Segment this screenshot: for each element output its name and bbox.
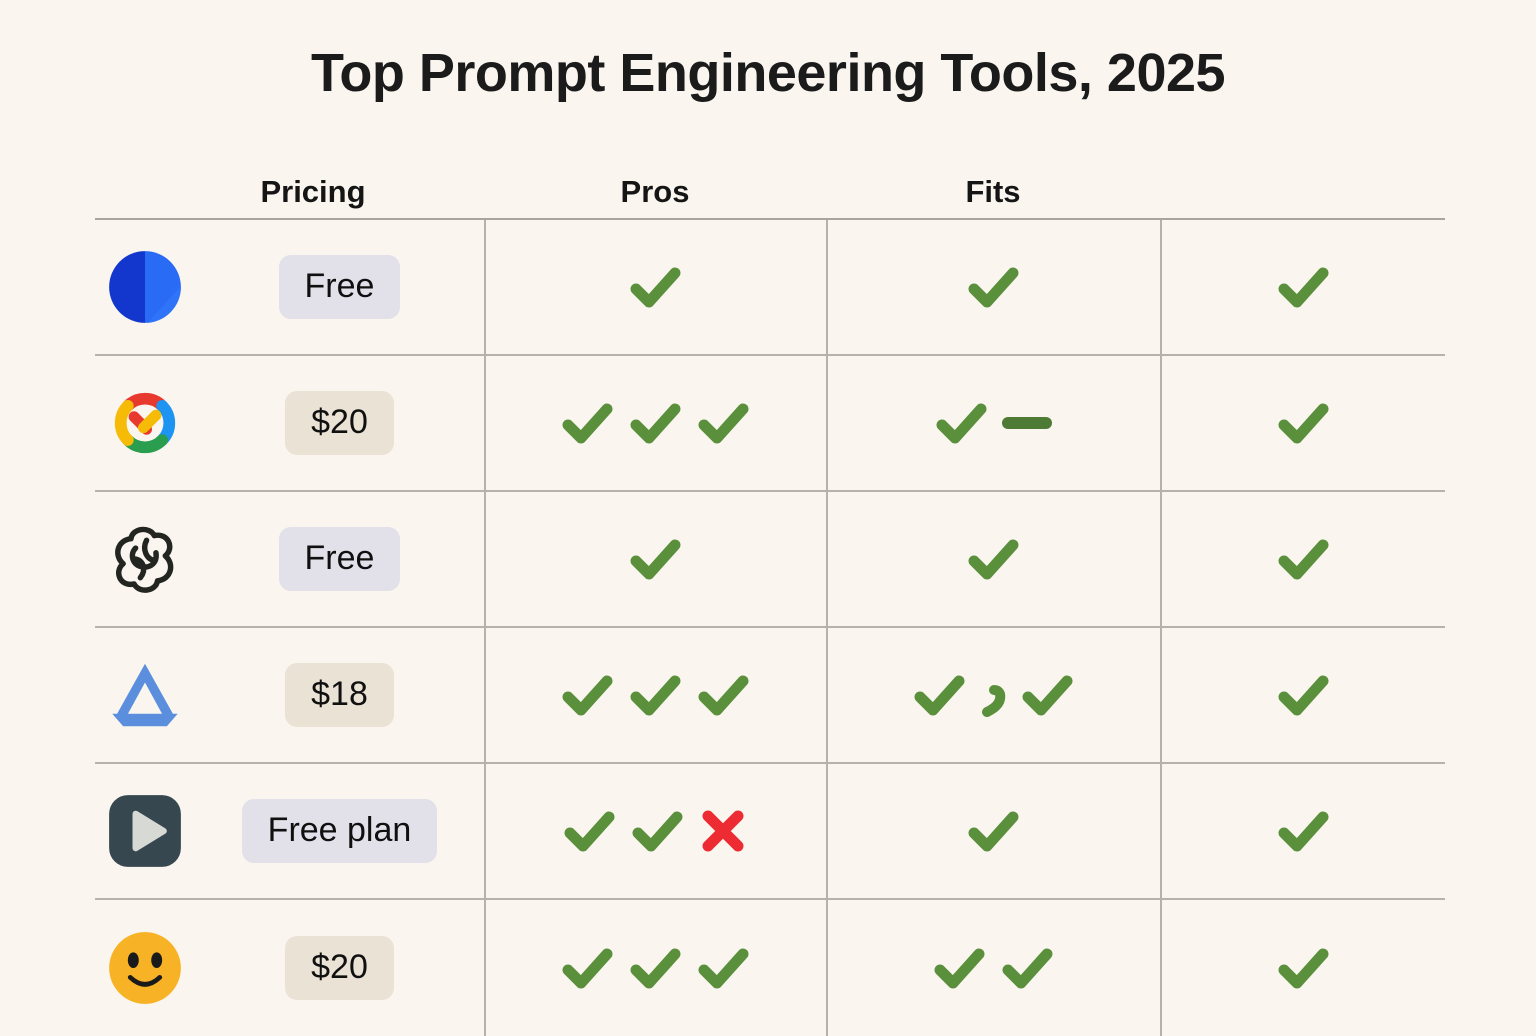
check-icon [1272, 937, 1334, 999]
check-icon [1272, 800, 1334, 862]
fits-cell [826, 764, 1160, 898]
pros-marks [556, 392, 754, 454]
table-row[interactable]: Free [95, 492, 1445, 628]
table-row[interactable]: Free [95, 220, 1445, 356]
extra-marks [1272, 664, 1334, 726]
page-title: Top Prompt Engineering Tools, 2025 [0, 42, 1536, 104]
brand-cell [95, 220, 195, 354]
check-icon [692, 664, 754, 726]
pricing-cell: Free plan [195, 764, 484, 898]
check-icon [1272, 528, 1334, 590]
yellow-smiley-face-logo-icon [106, 929, 184, 1007]
extra-marks [1272, 528, 1334, 590]
google-multicolor-swirl-logo-icon [106, 384, 184, 462]
table-row[interactable]: $20 [95, 356, 1445, 492]
blue-circle-split-logo-icon [106, 248, 184, 326]
fits-cell [826, 628, 1160, 762]
openai-knot-logo-icon [106, 520, 184, 598]
check-icon [556, 937, 618, 999]
pricing-cell: Free [195, 220, 484, 354]
check-icon [624, 937, 686, 999]
table-row[interactable]: $18 [95, 628, 1445, 764]
fits-marks [928, 937, 1058, 999]
pricing-badge: Free [279, 255, 401, 318]
extra-marks [1272, 937, 1334, 999]
extra-cell [1160, 900, 1445, 1036]
fits-cell [826, 492, 1160, 626]
fits-cell [826, 900, 1160, 1036]
comma-icon [976, 664, 1010, 726]
pros-marks [624, 256, 686, 318]
cross-icon [694, 802, 752, 860]
fits-marks [908, 664, 1078, 726]
fits-cell [826, 356, 1160, 490]
pricing-cell: Free [195, 492, 484, 626]
check-icon [626, 800, 688, 862]
check-icon [1016, 664, 1078, 726]
check-icon [692, 392, 754, 454]
check-icon [558, 800, 620, 862]
check-icon [928, 937, 990, 999]
pros-marks [556, 937, 754, 999]
check-icon [1272, 392, 1334, 454]
dark-play-button-logo-icon [106, 792, 184, 870]
extra-cell [1160, 764, 1445, 898]
table-header-row: Pricing Pros Fits [95, 145, 1445, 218]
brand-cell [95, 628, 195, 762]
fits-marks [962, 528, 1024, 590]
extra-cell [1160, 220, 1445, 354]
check-icon [624, 256, 686, 318]
blue-triangle-delta-logo-icon [106, 656, 184, 734]
column-header-pricing: Pricing [195, 174, 431, 210]
pros-marks [556, 664, 754, 726]
pricing-badge: $18 [285, 663, 394, 726]
pricing-badge: Free plan [242, 799, 438, 862]
check-icon [624, 392, 686, 454]
pros-cell [484, 220, 826, 354]
fits-cell [826, 220, 1160, 354]
brand-cell [95, 492, 195, 626]
brand-cell [95, 356, 195, 490]
pros-cell [484, 492, 826, 626]
dash-icon [998, 392, 1056, 454]
check-icon [624, 664, 686, 726]
check-icon [962, 800, 1024, 862]
extra-marks [1272, 800, 1334, 862]
pricing-cell: $20 [195, 356, 484, 490]
extra-cell [1160, 356, 1445, 490]
brand-cell [95, 900, 195, 1036]
extra-marks [1272, 392, 1334, 454]
pros-marks [558, 800, 752, 862]
comparison-table: Pricing Pros Fits Free$20Free$18Free pla… [95, 145, 1445, 1036]
pros-marks [624, 528, 686, 590]
check-icon [962, 528, 1024, 590]
check-icon [1272, 256, 1334, 318]
table-row[interactable]: $20 [95, 900, 1445, 1036]
check-icon [930, 392, 992, 454]
table-row[interactable]: Free plan [95, 764, 1445, 900]
column-header-pros: Pros [484, 174, 826, 210]
fits-marks [930, 392, 1056, 454]
pricing-badge: $20 [285, 936, 394, 999]
check-icon [692, 937, 754, 999]
table-body: Free$20Free$18Free plan$20 [95, 218, 1445, 1036]
pros-cell [484, 900, 826, 1036]
check-icon [556, 664, 618, 726]
pros-cell [484, 764, 826, 898]
extra-marks [1272, 256, 1334, 318]
extra-cell [1160, 492, 1445, 626]
pros-cell [484, 356, 826, 490]
fits-marks [962, 800, 1024, 862]
check-icon [962, 256, 1024, 318]
pricing-cell: $20 [195, 900, 484, 1036]
fits-marks [962, 256, 1024, 318]
extra-cell [1160, 628, 1445, 762]
pricing-badge: $20 [285, 391, 394, 454]
check-icon [908, 664, 970, 726]
pricing-badge: Free [279, 527, 401, 590]
pricing-cell: $18 [195, 628, 484, 762]
check-icon [996, 937, 1058, 999]
check-icon [624, 528, 686, 590]
brand-cell [95, 764, 195, 898]
pros-cell [484, 628, 826, 762]
check-icon [1272, 664, 1334, 726]
column-header-fits: Fits [826, 174, 1160, 210]
check-icon [556, 392, 618, 454]
